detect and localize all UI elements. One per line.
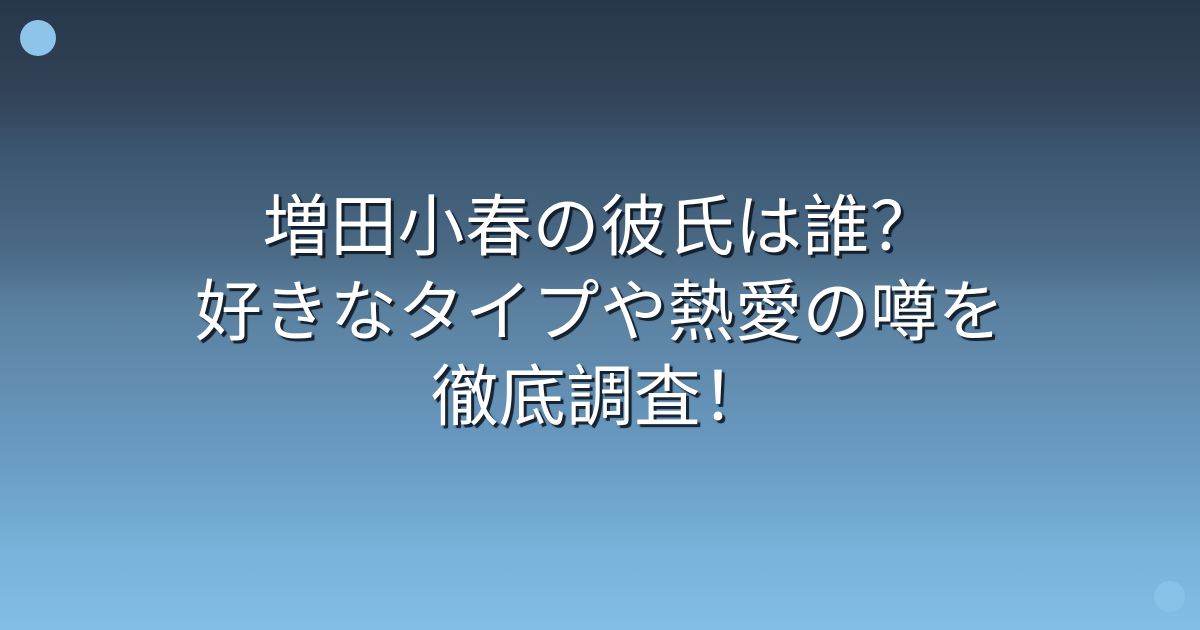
title-line-2: 好きなタイプや熱愛の噂を bbox=[50, 271, 1150, 356]
bokeh-circle-bottom-right-icon bbox=[1154, 581, 1185, 612]
og-image-card: 増田小春の彼氏は誰？ 好きなタイプや熱愛の噂を 徹底調査！ bbox=[0, 0, 1200, 630]
title-line-3: 徹底調査！ bbox=[50, 356, 1150, 441]
bokeh-circle-top-left-icon bbox=[20, 20, 56, 56]
page-title: 増田小春の彼氏は誰？ 好きなタイプや熱愛の噂を 徹底調査！ bbox=[50, 186, 1150, 445]
title-line-1: 増田小春の彼氏は誰？ bbox=[50, 186, 1150, 271]
